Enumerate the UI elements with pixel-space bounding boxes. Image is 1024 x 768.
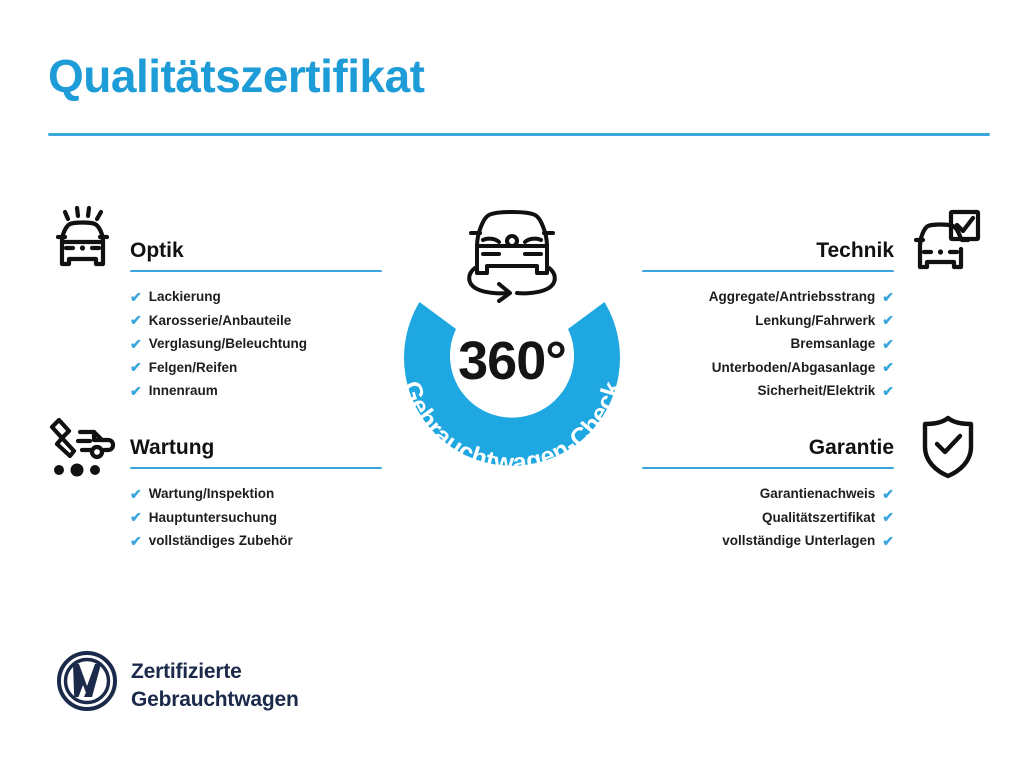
list-item-label: Hauptuntersuchung <box>149 506 277 530</box>
section-technik: Technik Aggregate/Antriebsstrang ✔ Lenku… <box>642 240 894 403</box>
check-icon: ✔ <box>882 360 894 374</box>
checklist-garantie: Garantienachweis ✔ Qualitätszertifikat ✔… <box>642 482 894 553</box>
check-icon: ✔ <box>882 510 894 524</box>
list-item: Aggregate/Antriebsstrang ✔ <box>642 285 894 309</box>
check-icon: ✔ <box>882 290 894 304</box>
list-item-label: Wartung/Inspektion <box>149 482 275 506</box>
list-item-label: vollständige Unterlagen <box>722 529 875 553</box>
car-360-rotate-icon <box>447 198 577 303</box>
check-icon: ✔ <box>130 510 142 524</box>
vw-logo <box>56 650 118 712</box>
checklist-wartung: ✔ Wartung/Inspektion ✔ Hauptuntersuchung… <box>130 482 382 553</box>
list-item: Garantienachweis ✔ <box>642 482 894 506</box>
list-item-label: Aggregate/Antriebsstrang <box>709 285 876 309</box>
list-item: ✔ vollständiges Zubehör <box>130 529 382 553</box>
list-item: Lenkung/Fahrwerk ✔ <box>642 309 894 333</box>
check-icon: ✔ <box>130 534 142 548</box>
list-item-label: Bremsanlage <box>790 332 875 356</box>
list-item-label: Verglasung/Beleuchtung <box>149 332 307 356</box>
check-icon: ✔ <box>130 290 142 304</box>
list-item-label: Karosserie/Anbauteile <box>149 309 292 333</box>
list-item: Qualitätszertifikat ✔ <box>642 506 894 530</box>
list-item: Bremsanlage ✔ <box>642 332 894 356</box>
section-optik: Optik ✔ Lackierung ✔ Karosserie/Anbautei… <box>130 240 382 403</box>
check-icon: ✔ <box>130 384 142 398</box>
check-icon: ✔ <box>882 313 894 327</box>
section-heading-wartung: Wartung <box>130 437 382 458</box>
vw-wordmark-line2: Gebrauchtwagen <box>131 686 299 714</box>
vw-wordmark-line1: Zertifizierte <box>131 658 299 686</box>
list-item-label: Sicherheit/Elektrik <box>757 379 875 403</box>
certificate-page: Qualitätszertifikat <box>0 0 1024 768</box>
vw-wordmark: Zertifizierte Gebrauchtwagen <box>131 658 299 714</box>
list-item-label: vollständiges Zubehör <box>149 529 293 553</box>
section-divider-technik <box>642 270 894 272</box>
list-item-label: Lackierung <box>149 285 221 309</box>
list-item: Unterboden/Abgasanlage ✔ <box>642 356 894 380</box>
list-item-label: Garantienachweis <box>760 482 876 506</box>
list-item: ✔ Innenraum <box>130 379 382 403</box>
check-icon: ✔ <box>882 337 894 351</box>
list-item-label: Qualitätszertifikat <box>762 506 875 530</box>
check-icon: ✔ <box>130 360 142 374</box>
list-item: ✔ Hauptuntersuchung <box>130 506 382 530</box>
list-item-label: Lenkung/Fahrwerk <box>755 309 875 333</box>
check-icon: ✔ <box>882 487 894 501</box>
shield-check-icon <box>918 414 978 480</box>
list-item: Sicherheit/Elektrik ✔ <box>642 379 894 403</box>
section-heading-garantie: Garantie <box>642 437 894 458</box>
title-divider <box>48 133 990 136</box>
section-divider-optik <box>130 270 382 272</box>
list-item: ✔ Wartung/Inspektion <box>130 482 382 506</box>
pencil-car-service-icon <box>44 414 120 484</box>
check-icon: ✔ <box>882 534 894 548</box>
check-icon: ✔ <box>130 313 142 327</box>
list-item: ✔ Karosserie/Anbauteile <box>130 309 382 333</box>
car-front-checkbox-icon <box>906 204 982 280</box>
list-item-label: Felgen/Reifen <box>149 356 238 380</box>
list-item: vollständige Unterlagen ✔ <box>642 529 894 553</box>
list-item-label: Innenraum <box>149 379 218 403</box>
badge-center-label: 360° <box>372 330 652 392</box>
section-heading-optik: Optik <box>130 240 382 261</box>
section-divider-garantie <box>642 467 894 469</box>
list-item: ✔ Verglasung/Beleuchtung <box>130 332 382 356</box>
check-icon: ✔ <box>130 487 142 501</box>
car-front-shine-icon <box>44 204 120 280</box>
checklist-technik: Aggregate/Antriebsstrang ✔ Lenkung/Fahrw… <box>642 285 894 403</box>
page-title: Qualitätszertifikat <box>48 52 425 100</box>
section-wartung: Wartung ✔ Wartung/Inspektion ✔ Hauptunte… <box>130 437 382 553</box>
check-icon: ✔ <box>882 384 894 398</box>
list-item: ✔ Lackierung <box>130 285 382 309</box>
section-heading-technik: Technik <box>642 240 894 261</box>
check-icon: ✔ <box>130 337 142 351</box>
section-divider-wartung <box>130 467 382 469</box>
list-item-label: Unterboden/Abgasanlage <box>712 356 876 380</box>
section-garantie: Garantie Garantienachweis ✔ Qualitätszer… <box>642 437 894 553</box>
checklist-optik: ✔ Lackierung ✔ Karosserie/Anbauteile ✔ V… <box>130 285 382 403</box>
list-item: ✔ Felgen/Reifen <box>130 356 382 380</box>
